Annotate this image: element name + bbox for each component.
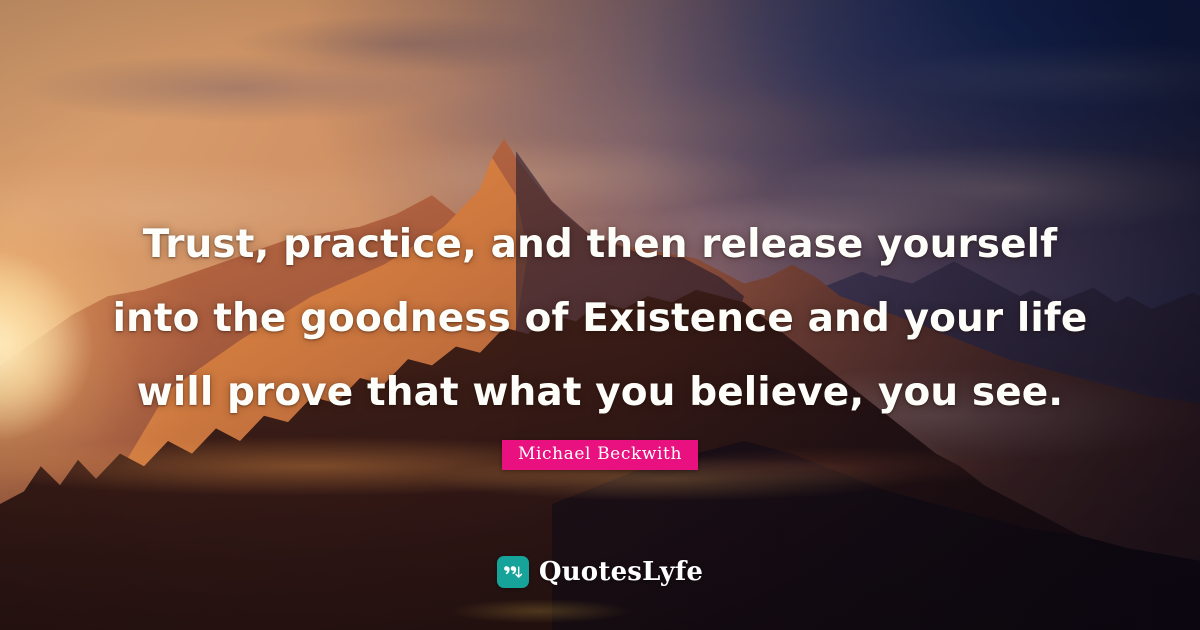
- author-attribution: Michael Beckwith: [0, 440, 1200, 470]
- quote-line-2: into the goodness of Existence and your …: [78, 282, 1122, 356]
- author-name-badge: Michael Beckwith: [502, 440, 698, 470]
- card-content: Trust, practice, and then release yourse…: [0, 0, 1200, 630]
- quote-line-3: will prove that what you believe, you se…: [78, 356, 1122, 430]
- quote-text: Trust, practice, and then release yourse…: [0, 208, 1200, 430]
- quote-line-1: Trust, practice, and then release yourse…: [78, 208, 1122, 282]
- quote-card: Trust, practice, and then release yourse…: [0, 0, 1200, 630]
- brand-name: QuotesLyfe: [539, 559, 703, 585]
- brand-watermark: QuotesLyfe: [0, 556, 1200, 588]
- quote-mark-icon: [497, 556, 529, 588]
